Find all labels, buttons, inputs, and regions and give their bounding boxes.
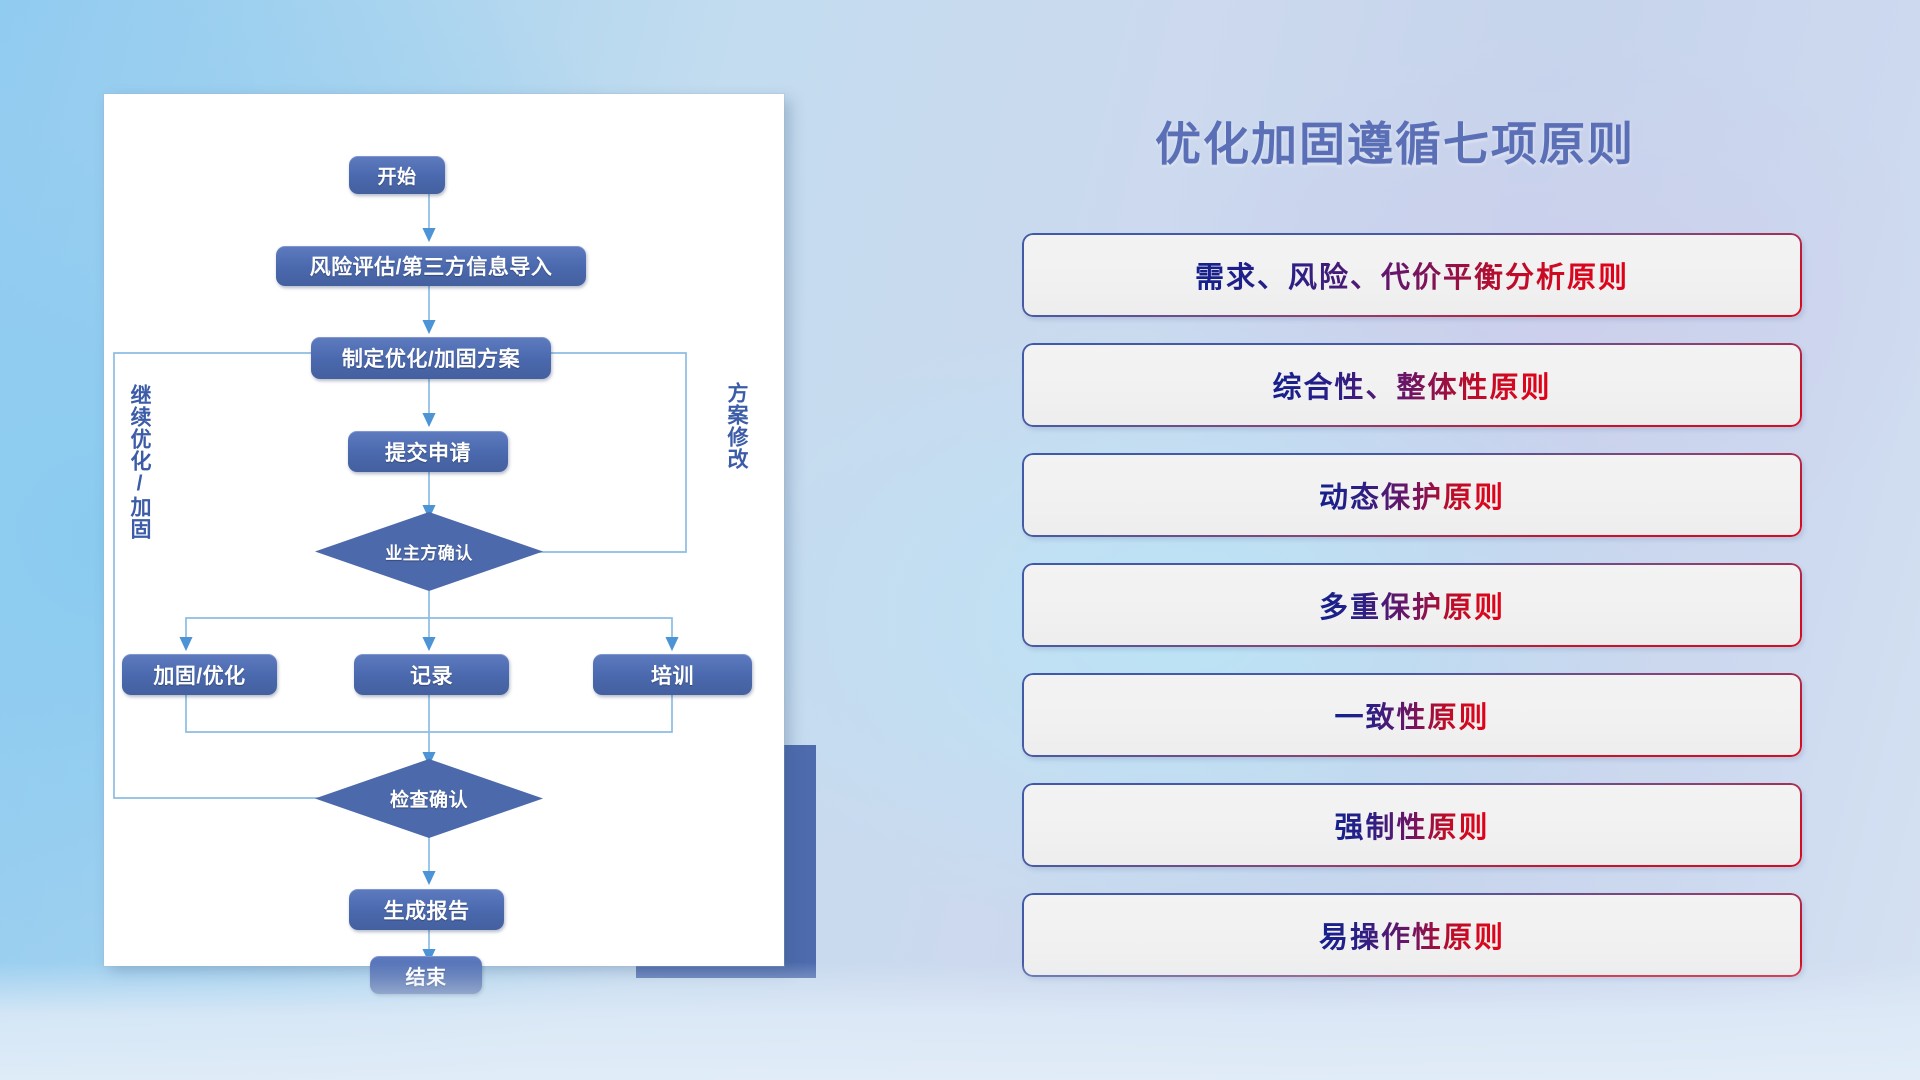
flow-node-start[interactable]: 开始 xyxy=(349,156,445,194)
flow-node-record[interactable]: 记录 xyxy=(354,654,509,695)
principle-card[interactable]: 易操作性原则 xyxy=(1022,893,1802,977)
principle-label: 综合性、整体性原则 xyxy=(1272,364,1551,406)
principle-card[interactable]: 强制性原则 xyxy=(1022,783,1802,867)
accent-block-bottom xyxy=(790,745,816,978)
principle-label: 易操作性原则 xyxy=(1319,914,1505,956)
principle-card[interactable]: 多重保护原则 xyxy=(1022,563,1802,647)
principle-label: 多重保护原则 xyxy=(1319,584,1505,626)
flow-node-submit-application[interactable]: 提交申请 xyxy=(348,431,508,472)
flow-node-label: 风险评估/第三方信息导入 xyxy=(310,251,553,281)
principle-card[interactable]: 一致性原则 xyxy=(1022,673,1802,757)
principle-card[interactable]: 需求、风险、代价平衡分析原则 xyxy=(1022,233,1802,317)
flow-node-label: 生成报告 xyxy=(384,895,470,925)
principle-card[interactable]: 动态保护原则 xyxy=(1022,453,1802,537)
principle-label: 需求、风险、代价平衡分析原则 xyxy=(1195,254,1629,296)
flow-node-owner-confirm[interactable]: 业主方确认 xyxy=(315,512,543,591)
flow-node-label: 提交申请 xyxy=(385,437,471,467)
principles-list: 需求、风险、代价平衡分析原则 综合性、整体性原则 动态保护原则 多重保护原则 一… xyxy=(1022,233,1802,1003)
flow-node-label: 培训 xyxy=(651,660,694,690)
flow-node-label: 结束 xyxy=(406,961,447,990)
flow-node-end[interactable]: 结束 xyxy=(370,956,482,994)
flow-node-label: 记录 xyxy=(410,660,453,690)
principle-label: 一致性原则 xyxy=(1334,694,1489,736)
flowchart-panel: 开始 风险评估/第三方信息导入 制定优化/加固方案 提交申请 业主方确认 加固/… xyxy=(104,94,784,966)
flow-node-label: 开始 xyxy=(377,162,416,189)
flow-node-label: 加固/优化 xyxy=(153,660,245,690)
flow-node-make-plan[interactable]: 制定优化/加固方案 xyxy=(311,337,551,379)
slide-canvas: 开始 风险评估/第三方信息导入 制定优化/加固方案 提交申请 业主方确认 加固/… xyxy=(0,0,1920,1080)
edge-label-plan-revision: 方案修改 xyxy=(725,382,747,470)
flow-node-label: 业主方确认 xyxy=(385,539,473,564)
flow-node-reinforce-optimize[interactable]: 加固/优化 xyxy=(122,654,277,695)
principle-label: 强制性原则 xyxy=(1334,804,1489,846)
edge-label-continue-optimize: 继续优化/加固 xyxy=(128,384,150,540)
principle-card[interactable]: 综合性、整体性原则 xyxy=(1022,343,1802,427)
flow-node-risk-assessment[interactable]: 风险评估/第三方信息导入 xyxy=(276,246,586,286)
flow-node-inspection-confirm[interactable]: 检查确认 xyxy=(315,759,543,838)
flow-node-training[interactable]: 培训 xyxy=(593,654,752,695)
principle-label: 动态保护原则 xyxy=(1319,474,1505,516)
flow-node-label: 制定优化/加固方案 xyxy=(342,343,520,373)
flow-node-label: 检查确认 xyxy=(390,785,468,812)
flow-node-generate-report[interactable]: 生成报告 xyxy=(349,889,504,930)
page-title: 优化加固遵循七项原则 xyxy=(1000,108,1790,174)
